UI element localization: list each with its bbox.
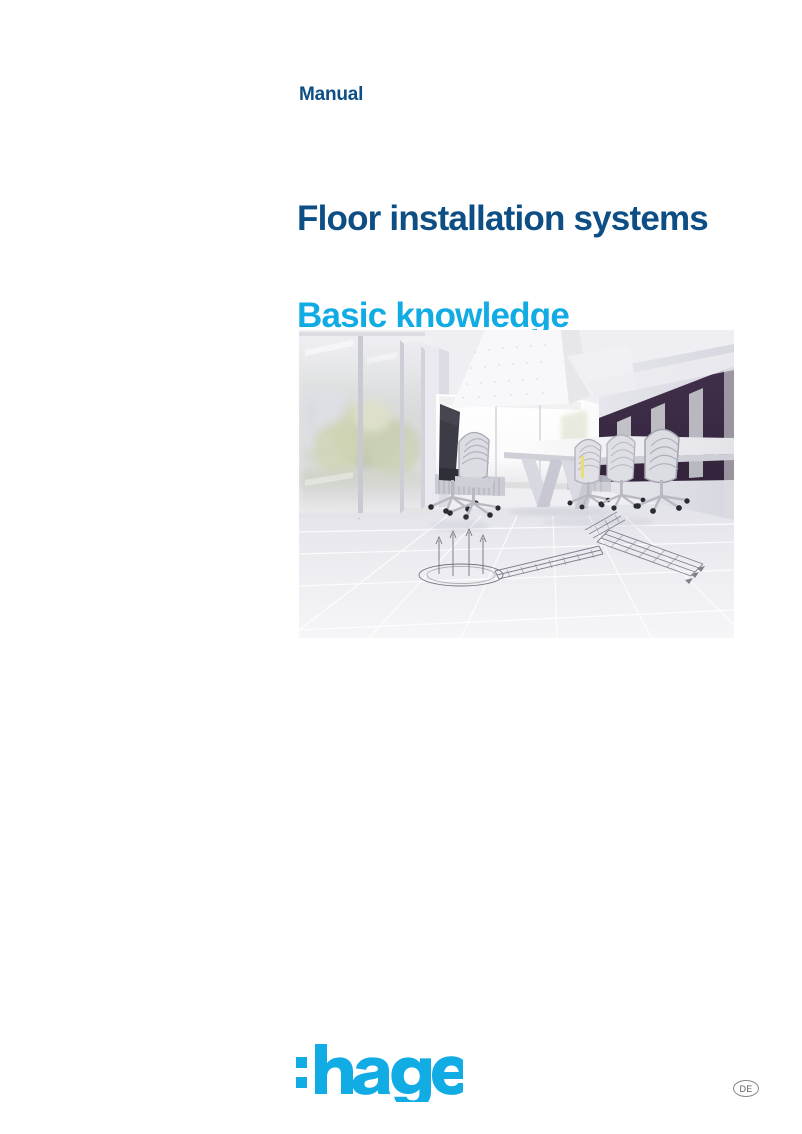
office-chair-group-left: [459, 432, 489, 480]
office-interior-illustration: [299, 330, 734, 638]
hager-logo: :hager: [293, 1038, 463, 1102]
document-type-label: Manual: [299, 84, 363, 107]
hager-logo-mark: [296, 1044, 463, 1102]
cover-page: Manual Floor installation systems Basic …: [0, 0, 802, 1134]
accent-object: [581, 456, 584, 478]
glass-partition-wall: [299, 332, 425, 520]
language-badge: DE: [733, 1080, 759, 1097]
office-chair-group-right: [568, 429, 690, 513]
hero-image: [299, 330, 734, 638]
page-title: Floor installation systems: [297, 199, 708, 239]
